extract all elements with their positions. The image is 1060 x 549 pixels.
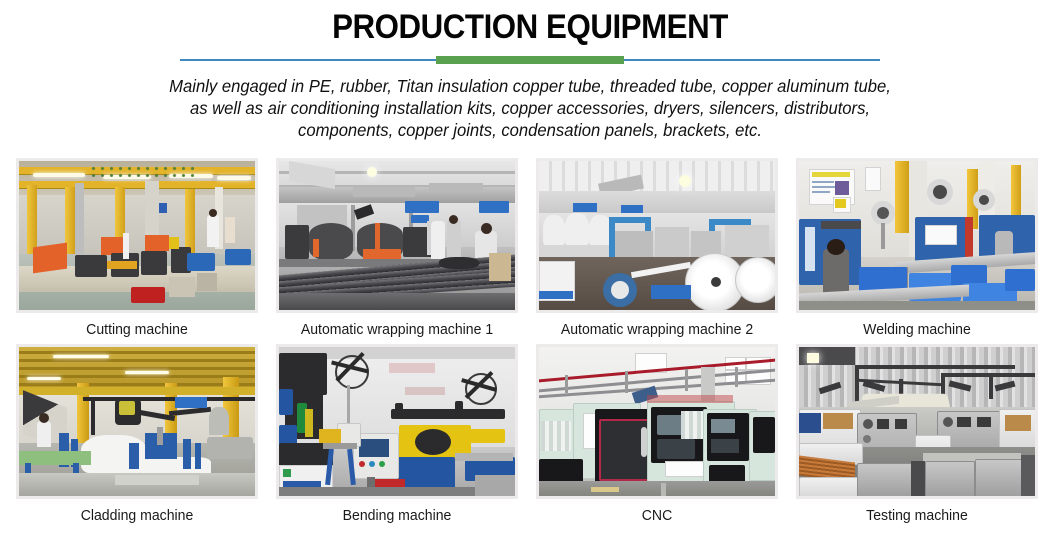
- gallery-item-cladding-machine[interactable]: Cladding machine: [16, 344, 258, 525]
- gallery-item-bending-machine[interactable]: Bending machine: [276, 344, 518, 525]
- page-title: PRODUCTION EQUIPMENT: [42, 0, 1017, 48]
- photo-testing-machine[interactable]: [796, 344, 1038, 499]
- gallery-row: Cladding machine: [16, 344, 1044, 525]
- caption: Welding machine: [800, 313, 1035, 339]
- gallery-item-cnc[interactable]: CNC: [536, 344, 778, 525]
- caption: Automatic wrapping machine 2: [540, 313, 775, 339]
- page-subtitle: Mainly engaged in PE, rubber, Titan insu…: [160, 75, 901, 141]
- caption: Cladding machine: [20, 499, 255, 525]
- gallery-item-testing-machine[interactable]: Testing machine: [796, 344, 1038, 525]
- photo-cladding-machine[interactable]: [16, 344, 258, 499]
- caption: Testing machine: [800, 499, 1035, 525]
- caption: CNC: [540, 499, 775, 525]
- photo-cutting-machine[interactable]: [16, 158, 258, 313]
- caption: Bending machine: [280, 499, 515, 525]
- gallery-item-automatic-wrapping-machine-1[interactable]: Automatic wrapping machine 1: [276, 158, 518, 339]
- gallery-item-welding-machine[interactable]: Welding machine: [796, 158, 1038, 339]
- divider-accent: [436, 56, 624, 64]
- caption: Automatic wrapping machine 1: [280, 313, 515, 339]
- title-divider: [180, 55, 880, 65]
- gallery-item-automatic-wrapping-machine-2[interactable]: Automatic wrapping machine 2: [536, 158, 778, 339]
- photo-welding-machine[interactable]: [796, 158, 1038, 313]
- photo-cnc[interactable]: [536, 344, 778, 499]
- photo-automatic-wrapping-machine-2[interactable]: [536, 158, 778, 313]
- photo-automatic-wrapping-machine-1[interactable]: [276, 158, 518, 313]
- equipment-gallery: Cutting machine: [16, 158, 1044, 525]
- photo-bending-machine[interactable]: [276, 344, 518, 499]
- gallery-item-cutting-machine[interactable]: Cutting machine: [16, 158, 258, 339]
- caption: Cutting machine: [20, 313, 255, 339]
- gallery-row: Cutting machine: [16, 158, 1044, 339]
